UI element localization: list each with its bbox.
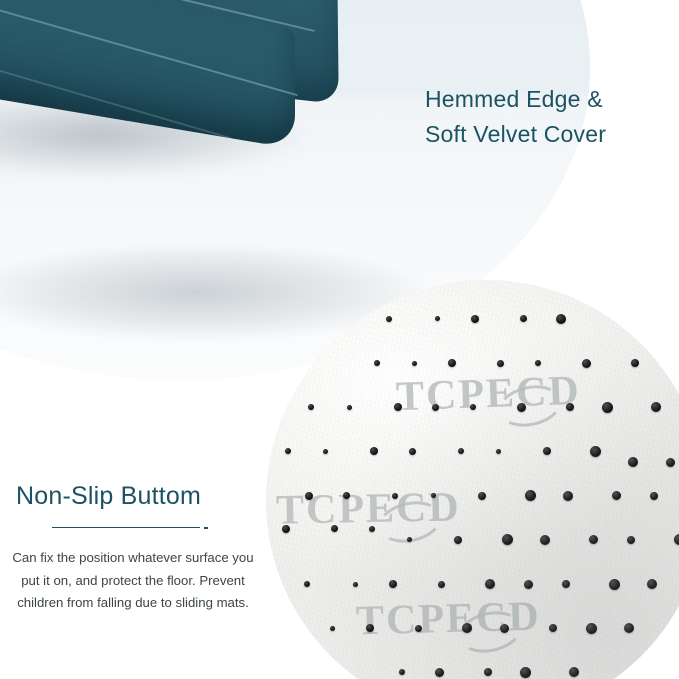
body-paragraph: Can fix the position whatever surface yo… bbox=[12, 547, 254, 615]
teal-velvet-cushion bbox=[0, 0, 390, 210]
headline-block: Hemmed Edge & Soft Velvet Cover bbox=[425, 82, 679, 152]
non-slip-bottom-circle: TCPECD TCPECD TCPECD bbox=[266, 280, 679, 679]
subheading-non-slip: Non-Slip Buttom bbox=[16, 482, 201, 511]
mat-vignette bbox=[266, 280, 679, 679]
divider-rule bbox=[52, 527, 200, 528]
headline-line-1: Hemmed Edge & bbox=[425, 82, 679, 117]
headline-line-2: Soft Velvet Cover bbox=[425, 117, 679, 152]
product-infographic: Hemmed Edge & Soft Velvet Cover Non-Slip… bbox=[0, 0, 679, 679]
